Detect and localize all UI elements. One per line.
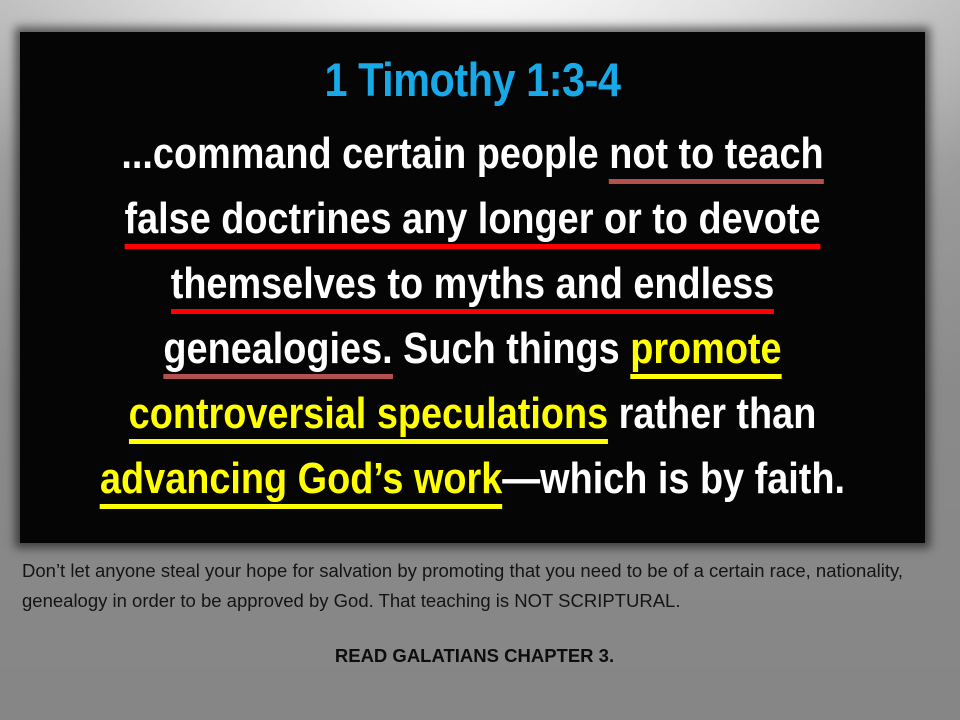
verse-line-4-highlight: promote <box>630 324 781 379</box>
verse-line-3: themselves to myths and endless <box>83 251 861 316</box>
verse-line-4-plain: Such things <box>393 324 631 373</box>
scripture-image: 1 Timothy 1:3-4 ...command certain peopl… <box>20 32 925 543</box>
verse-line-1: ...command certain people not to teach <box>83 121 861 186</box>
verse-line-1-underlined: not to teach <box>609 129 823 184</box>
verse-line-2-underlined: false doctrines any longer or to devote <box>124 194 820 249</box>
verse-line-1-plain: ...command certain people <box>121 129 609 178</box>
verse-line-4-underlined-brick: genealogies. <box>163 324 392 379</box>
verse-line-5: controversial speculations rather than <box>83 381 861 446</box>
caption-paragraph: Don’t let anyone steal your hope for sal… <box>22 556 927 616</box>
verse-line-3-underlined: themselves to myths and endless <box>171 259 775 314</box>
verse-line-6-highlight: advancing God’s work <box>100 454 502 509</box>
verse-body-text: ...command certain people not to teach f… <box>20 121 925 511</box>
verse-line-6: advancing God’s work—which is by faith. <box>83 446 861 511</box>
verse-reference-title: 1 Timothy 1:3-4 <box>74 56 870 103</box>
verse-line-5-plain: rather than <box>608 389 816 438</box>
caption-read-galatians: READ GALATIANS CHAPTER 3. <box>22 645 927 667</box>
verse-line-4: genealogies. Such things promote <box>83 316 861 381</box>
verse-line-6-plain: —which is by faith. <box>502 454 845 503</box>
slide-canvas: 1 Timothy 1:3-4 ...command certain peopl… <box>0 0 960 720</box>
verse-line-5-highlight: controversial speculations <box>129 389 608 444</box>
verse-line-2: false doctrines any longer or to devote <box>83 186 861 251</box>
